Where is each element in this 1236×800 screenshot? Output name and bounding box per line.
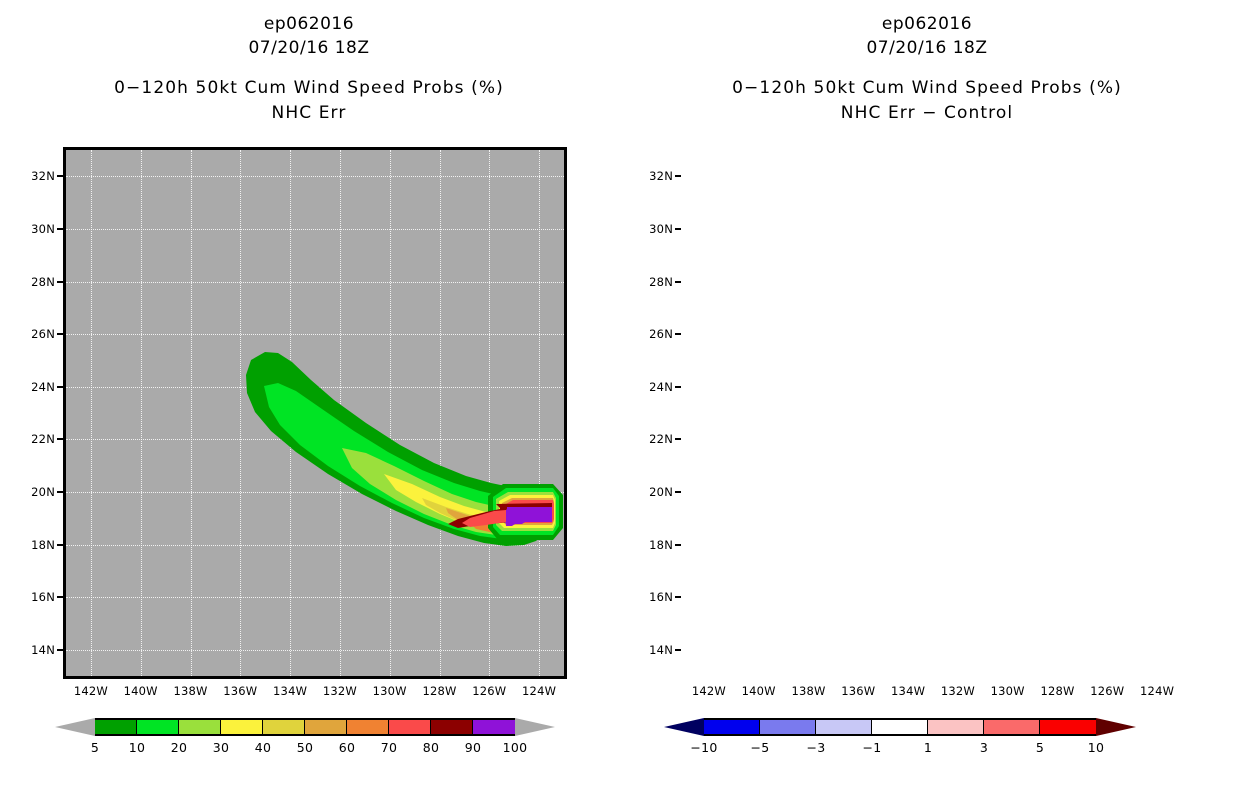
y-axis-tick-label: 28N	[21, 275, 55, 289]
colorbar-swatch	[389, 720, 431, 734]
y-axis-tick-label: 18N	[21, 538, 55, 552]
colorbar-tick-label: 90	[465, 740, 482, 755]
main-title-right: 0−120h 50kt Cum Wind Speed Probs (%)	[618, 76, 1236, 101]
colorbar-swatch	[816, 720, 872, 734]
y-axis-tick-mark	[675, 333, 681, 335]
colorbar-right[interactable]: −10−5−3−113510	[618, 0, 1236, 70]
x-axis-tick-label: 138W	[173, 684, 207, 698]
x-axis-tick-label: 132W	[941, 684, 975, 698]
y-axis-tick-mark	[675, 596, 681, 598]
y-axis-tick-mark	[675, 649, 681, 651]
x-axis-tick-label: 136W	[841, 684, 875, 698]
y-axis-tick-label: 22N	[639, 432, 673, 446]
x-axis-tick-label: 132W	[323, 684, 357, 698]
colorbar-tick-label: 1	[924, 740, 932, 755]
x-axis-tick-label: 138W	[791, 684, 825, 698]
x-axis-tick-label: 130W	[991, 684, 1025, 698]
colorbar-under-arrow	[55, 718, 95, 736]
x-axis-tick-label: 136W	[223, 684, 257, 698]
sub-title-left: NHC Err	[0, 101, 618, 125]
y-axis-tick-mark	[57, 333, 63, 335]
colorbar-swatch	[431, 720, 473, 734]
colorbar-swatch	[872, 720, 928, 734]
colorbar-strip	[704, 718, 1096, 736]
y-axis-tick-label: 22N	[21, 432, 55, 446]
colorbar-tick-label: 20	[171, 740, 188, 755]
x-axis-tick-label: 130W	[373, 684, 407, 698]
y-axis-tick-mark	[57, 438, 63, 440]
x-axis-tick-label: 126W	[1090, 684, 1124, 698]
y-axis-tick-mark	[57, 228, 63, 230]
colorbar-swatch	[263, 720, 305, 734]
colorbar-swatch	[221, 720, 263, 734]
contour-layer-left	[66, 150, 564, 676]
y-axis-tick-mark	[675, 281, 681, 283]
colorbar-swatch	[704, 720, 760, 734]
colorbar-over-arrow	[1096, 718, 1136, 736]
y-axis-tick-mark	[57, 281, 63, 283]
y-axis-tick-mark	[57, 649, 63, 651]
y-axis-tick-label: 30N	[639, 222, 673, 236]
y-axis-tick-label: 14N	[21, 643, 55, 657]
colorbar-swatch	[347, 720, 389, 734]
colorbar-over-arrow	[515, 718, 555, 736]
colorbar-tick-label: 70	[381, 740, 398, 755]
colorbar-under-arrow	[664, 718, 704, 736]
x-axis-tick-label: 140W	[124, 684, 158, 698]
x-axis-tick-label: 124W	[522, 684, 556, 698]
y-axis-tick-label: 24N	[21, 380, 55, 394]
x-axis-tick-label: 124W	[1140, 684, 1174, 698]
y-axis-tick-mark	[675, 175, 681, 177]
probability-contours	[66, 150, 564, 676]
y-axis-tick-mark	[675, 228, 681, 230]
y-axis-tick-label: 32N	[21, 169, 55, 183]
x-axis-tick-label: 126W	[472, 684, 506, 698]
colorbar-swatch	[928, 720, 984, 734]
colorbar-left[interactable]: 5102030405060708090100	[0, 0, 618, 70]
colorbar-tick-label: 60	[339, 740, 356, 755]
y-axis-tick-mark	[57, 596, 63, 598]
y-axis-tick-label: 16N	[21, 590, 55, 604]
colorbar-tick-label: 3	[980, 740, 988, 755]
colorbar-strip	[95, 718, 515, 736]
colorbar-swatch	[179, 720, 221, 734]
main-title-left: 0−120h 50kt Cum Wind Speed Probs (%)	[0, 76, 618, 101]
colorbar-tick-label: −1	[862, 740, 881, 755]
colorbar-tick-label: 10	[1088, 740, 1105, 755]
y-axis-tick-mark	[675, 386, 681, 388]
colorbar-swatch	[760, 720, 816, 734]
y-axis-tick-mark	[57, 544, 63, 546]
y-axis-tick-label: 26N	[21, 327, 55, 341]
x-axis-tick-label: 128W	[422, 684, 456, 698]
colorbar-swatch	[137, 720, 179, 734]
y-axis-tick-label: 14N	[639, 643, 673, 657]
x-axis-tick-label: 140W	[742, 684, 776, 698]
colorbar-tick-label: 100	[503, 740, 528, 755]
y-axis-tick-mark	[675, 491, 681, 493]
y-axis-tick-mark	[57, 175, 63, 177]
x-axis-tick-label: 134W	[891, 684, 925, 698]
colorbar-tick-label: 80	[423, 740, 440, 755]
y-axis-tick-label: 26N	[639, 327, 673, 341]
x-axis-tick-label: 128W	[1040, 684, 1074, 698]
y-axis-tick-label: 20N	[21, 485, 55, 499]
colorbar-tick-label: 40	[255, 740, 272, 755]
y-axis-tick-mark	[57, 491, 63, 493]
y-axis-tick-label: 32N	[639, 169, 673, 183]
y-axis-tick-label: 30N	[21, 222, 55, 236]
x-axis-tick-label: 134W	[273, 684, 307, 698]
colorbar-swatch	[1040, 720, 1096, 734]
y-axis-tick-mark	[57, 386, 63, 388]
x-axis-tick-label: 142W	[692, 684, 726, 698]
colorbar-swatch	[473, 720, 515, 734]
colorbar-tick-label: −5	[750, 740, 769, 755]
colorbar-tick-label: −3	[806, 740, 825, 755]
map-plot-left[interactable]	[63, 147, 567, 679]
x-axis-tick-label: 142W	[74, 684, 108, 698]
colorbar-tick-label: 10	[129, 740, 146, 755]
y-axis-tick-label: 28N	[639, 275, 673, 289]
colorbar-swatch	[95, 720, 137, 734]
panel-right: ep062016 07/20/16 18Z 0−120h 50kt Cum Wi…	[618, 0, 1236, 800]
colorbar-tick-label: 30	[213, 740, 230, 755]
colorbar-tick-label: 5	[1036, 740, 1044, 755]
y-axis-tick-label: 20N	[639, 485, 673, 499]
panel-left: ep062016 07/20/16 18Z 0−120h 50kt Cum Wi…	[0, 0, 618, 800]
y-axis-tick-mark	[675, 544, 681, 546]
y-axis-tick-mark	[675, 438, 681, 440]
y-axis-tick-label: 16N	[639, 590, 673, 604]
sub-title-right: NHC Err − Control	[618, 101, 1236, 125]
colorbar-tick-label: −10	[690, 740, 717, 755]
colorbar-swatch	[305, 720, 347, 734]
colorbar-swatch	[984, 720, 1040, 734]
colorbar-tick-label: 5	[91, 740, 99, 755]
colorbar-tick-label: 50	[297, 740, 314, 755]
y-axis-tick-label: 18N	[639, 538, 673, 552]
y-axis-tick-label: 24N	[639, 380, 673, 394]
